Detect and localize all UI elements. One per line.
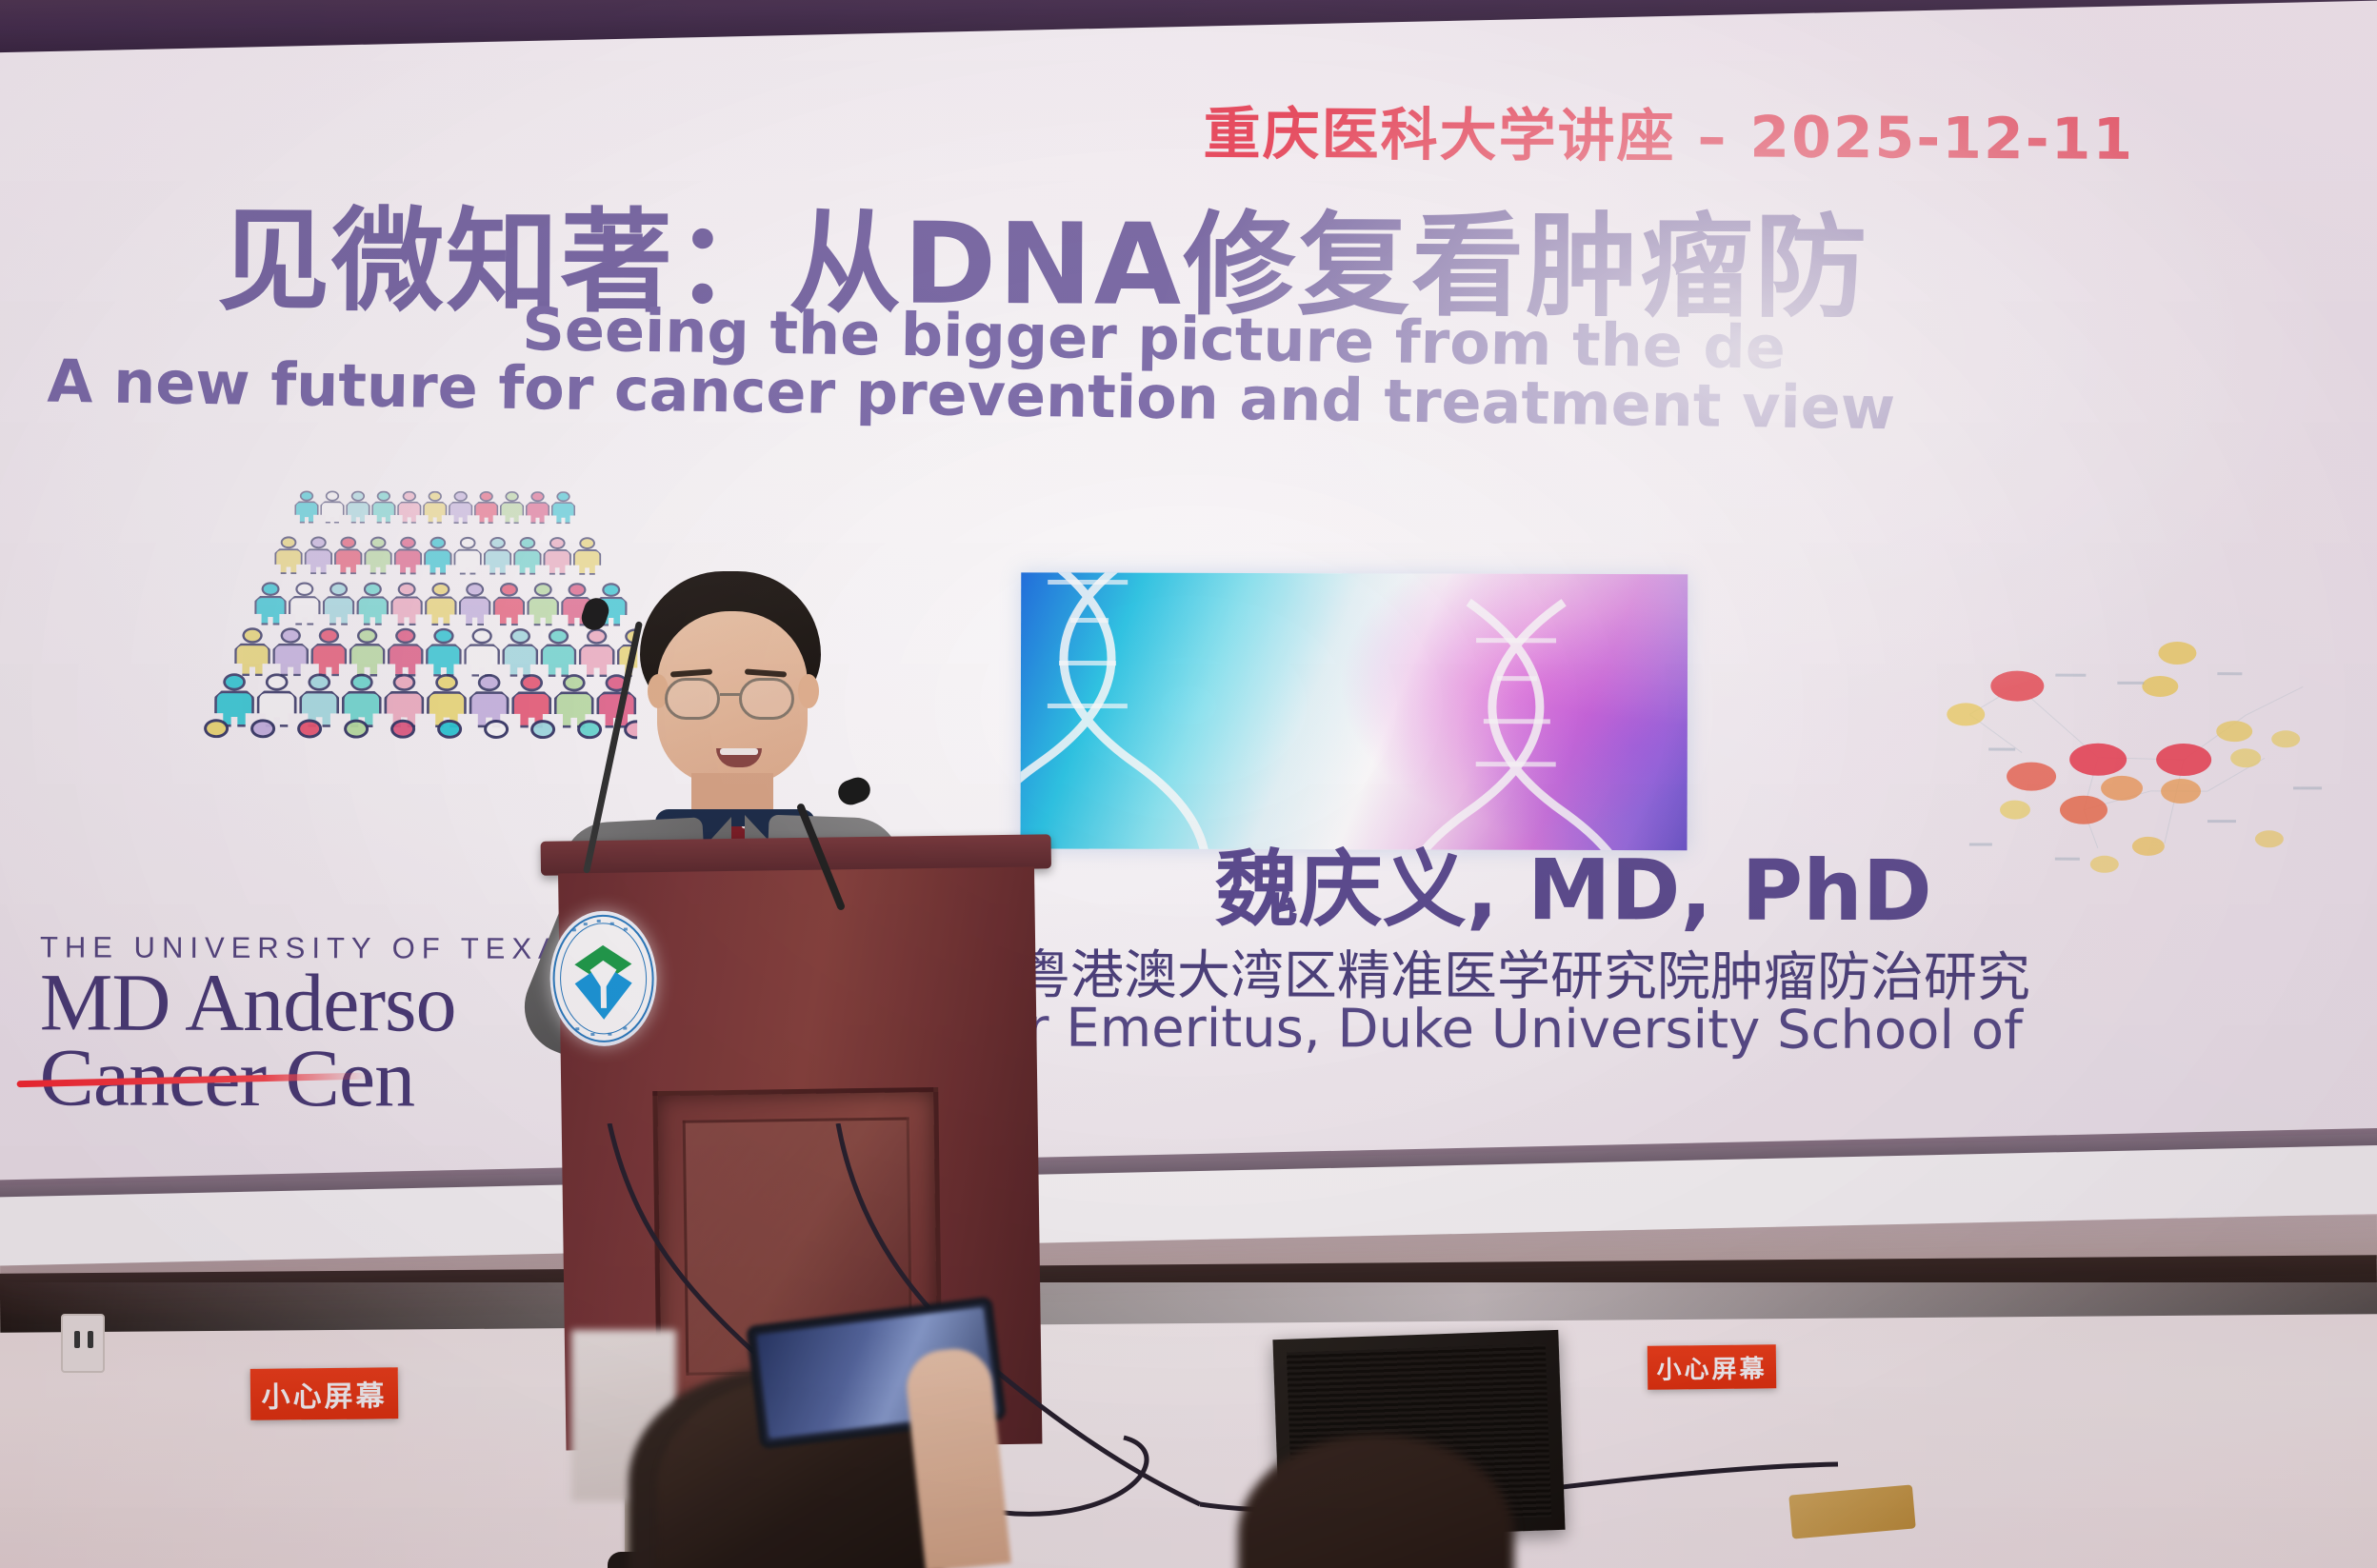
person-icon-body <box>289 596 321 625</box>
person-icon-head <box>262 582 280 596</box>
person-icon <box>449 491 472 524</box>
person-icon-body <box>426 644 462 677</box>
person-icon-body <box>288 738 331 739</box>
person-icon <box>381 720 425 740</box>
person-icon-head <box>350 674 373 691</box>
person-icon <box>310 627 347 676</box>
person-icon-head <box>393 674 416 691</box>
slide-affiliation-english: or Emeritus, Duke University School of <box>994 997 2023 1062</box>
person-icon <box>334 537 363 575</box>
person-icon <box>305 536 333 574</box>
person-icon-body <box>424 549 452 575</box>
person-icon-head <box>319 627 339 643</box>
person-icon-head <box>549 537 566 549</box>
person-icon-body <box>272 644 309 677</box>
person-icon-body <box>320 501 344 523</box>
person-icon-body <box>390 596 423 625</box>
person-icon-body <box>323 596 355 625</box>
person-icon <box>551 491 575 524</box>
speaker-ear-right <box>798 674 819 708</box>
person-icon-head <box>520 537 536 549</box>
person-icon-head <box>223 673 246 690</box>
person-icon-body <box>294 501 318 523</box>
person-icon <box>394 537 423 575</box>
person-icon <box>364 537 392 575</box>
person-icon-head <box>433 628 453 644</box>
projection-screen: 重庆医科大学讲座 – 2025-12-11 见微知著：从DNA修复看肿瘤防 Se… <box>0 0 2377 1266</box>
person-icon <box>453 537 482 575</box>
person-icon-head <box>295 582 313 596</box>
person-icon-head <box>204 719 229 738</box>
person-icon-head <box>326 491 339 502</box>
person-icon-body <box>310 644 347 677</box>
person-icon-body <box>500 502 524 524</box>
person-icon-head <box>400 537 416 549</box>
person-icon-head <box>344 720 369 739</box>
person-icon-head <box>460 537 476 549</box>
person-icon-body <box>334 548 363 574</box>
slide-content: 重庆医科大学讲座 – 2025-12-11 见微知著：从DNA修复看肿瘤防 Se… <box>0 0 2377 1186</box>
lecture-photo: 重庆医科大学讲座 – 2025-12-11 见微知著：从DNA修复看肿瘤防 Se… <box>0 0 2377 1568</box>
slide-kicker: 重庆医科大学讲座 – 2025-12-11 <box>1203 88 2134 176</box>
person-icon-body <box>551 502 575 524</box>
person-icon-body <box>453 549 482 575</box>
person-icon-head <box>250 719 275 738</box>
person-icon <box>397 491 421 524</box>
person-icon-head <box>471 628 491 644</box>
person-icon-head <box>431 583 449 597</box>
person-icon-body <box>371 502 395 524</box>
person-icon <box>234 627 270 676</box>
person-icon-head <box>390 720 415 739</box>
person-icon-head <box>395 628 415 644</box>
person-icon-head <box>281 627 301 643</box>
person-icon-head <box>530 491 544 502</box>
person-icon <box>346 491 370 524</box>
person-icon-body <box>428 739 471 740</box>
crowd-row <box>274 536 558 574</box>
person-icon-body <box>356 596 389 625</box>
person-icon <box>288 719 331 739</box>
person-icon <box>350 628 386 677</box>
person-icon <box>425 583 457 625</box>
person-icon <box>500 491 524 524</box>
person-icon-body <box>526 502 549 524</box>
person-icon-head <box>357 628 377 644</box>
person-icon <box>241 719 285 739</box>
person-icon-head <box>437 720 462 739</box>
person-icon-body <box>234 644 270 677</box>
slide-speaker-name: 魏庆义, MD, PhD <box>1215 822 1932 944</box>
person-icon <box>254 582 287 625</box>
person-icon-body <box>346 502 370 524</box>
person-icon-head <box>403 491 416 502</box>
person-icon-body <box>334 739 378 740</box>
warning-sign-right: 小心屏幕 <box>1648 1344 1776 1389</box>
gene-network-image <box>1931 614 2377 901</box>
person-icon-head <box>370 537 387 549</box>
wall-power-outlet <box>61 1314 105 1373</box>
person-icon-body <box>305 548 333 574</box>
crowd-row <box>294 490 538 524</box>
person-icon-body <box>388 644 424 677</box>
person-icon-body <box>364 548 392 574</box>
person-icon-body <box>394 548 423 574</box>
person-icon <box>388 628 424 677</box>
person-icon-body <box>381 739 425 740</box>
person-icon <box>484 537 512 575</box>
person-icon-head <box>242 627 262 643</box>
person-icon <box>474 491 498 524</box>
person-icon-head <box>579 537 595 549</box>
person-icon-head <box>556 491 569 502</box>
person-icon-head <box>435 674 458 691</box>
glasses-lens-left <box>665 678 720 720</box>
person-icon <box>513 537 542 575</box>
person-icon-head <box>310 536 327 548</box>
person-icon-head <box>351 491 365 502</box>
person-icon-body <box>425 596 457 625</box>
person-icon <box>194 719 238 739</box>
person-icon-head <box>364 583 382 597</box>
person-icon-head <box>340 537 356 549</box>
person-icon-body <box>350 644 386 677</box>
person-icon-head <box>330 583 348 597</box>
person-icon-head <box>429 491 442 502</box>
warning-sign-left: 小心屏幕 <box>250 1367 399 1420</box>
person-icon-head <box>466 583 484 597</box>
person-icon <box>274 536 303 574</box>
person-icon <box>289 582 321 625</box>
person-icon-head <box>429 537 446 549</box>
person-icon-head <box>377 491 390 502</box>
person-icon-body <box>254 596 287 625</box>
glasses-bridge <box>720 693 741 696</box>
person-icon <box>272 627 309 676</box>
person-icon-head <box>300 490 313 501</box>
person-icon <box>323 582 355 625</box>
person-icon <box>423 491 447 524</box>
person-icon <box>424 537 452 575</box>
person-icon <box>426 628 462 677</box>
person-icon-body <box>397 502 421 524</box>
person-icon <box>428 720 471 740</box>
person-icon <box>459 583 491 625</box>
person-icon-head <box>308 673 330 690</box>
person-icon-head <box>398 583 416 597</box>
person-icon <box>294 490 318 523</box>
person-icon-body <box>459 596 491 625</box>
person-icon <box>356 583 389 625</box>
person-icon-body <box>474 502 498 524</box>
person-icon <box>526 491 549 524</box>
person-icon <box>390 583 423 625</box>
person-icon-body <box>194 738 238 739</box>
person-icon-head <box>281 536 297 548</box>
person-icon-body <box>449 502 472 524</box>
person-icon <box>543 537 571 575</box>
university-emblem-icon <box>549 910 658 1047</box>
person-icon-head <box>489 537 506 549</box>
person-icon-body <box>274 548 303 574</box>
person-icon <box>334 720 378 740</box>
person-icon-body <box>241 738 285 739</box>
glasses-lens-right <box>739 678 794 720</box>
person-icon-body <box>423 502 447 524</box>
person-icon-head <box>480 491 493 502</box>
person-icon-head <box>297 719 322 738</box>
person-icon <box>573 537 602 575</box>
person-icon <box>320 490 344 523</box>
person-icon <box>371 491 395 524</box>
person-icon-head <box>454 491 468 502</box>
dna-helix-image <box>1020 572 1688 850</box>
person-icon-head <box>266 673 289 690</box>
person-icon-head <box>505 491 518 502</box>
